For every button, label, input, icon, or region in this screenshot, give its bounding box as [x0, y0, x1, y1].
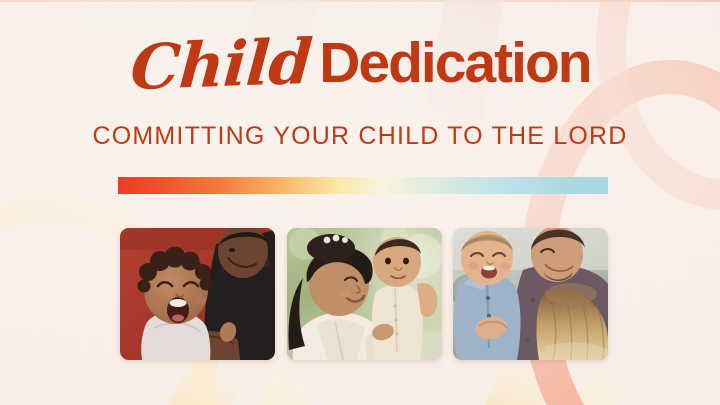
slide-content: ChildDedication COMMITTING YOUR CHILD TO…	[0, 0, 720, 405]
gradient-divider-bar	[118, 177, 608, 194]
subtitle-text: COMMITTING YOUR CHILD TO THE LORD	[0, 122, 720, 151]
photo-mother-baby-outdoors	[287, 228, 442, 360]
title-bold-word: Dedication	[319, 35, 590, 92]
photo-card-3	[453, 228, 608, 360]
photo-family-baby-blue	[453, 228, 608, 360]
photo-card-row	[120, 228, 608, 360]
page-title: ChildDedication	[0, 34, 720, 96]
title-script-word: Child	[129, 31, 314, 99]
slide-canvas: ChildDedication COMMITTING YOUR CHILD TO…	[0, 0, 720, 405]
photo-card-2	[287, 228, 442, 360]
photo-father-laughing-baby	[120, 228, 275, 360]
photo-card-1	[120, 228, 275, 360]
